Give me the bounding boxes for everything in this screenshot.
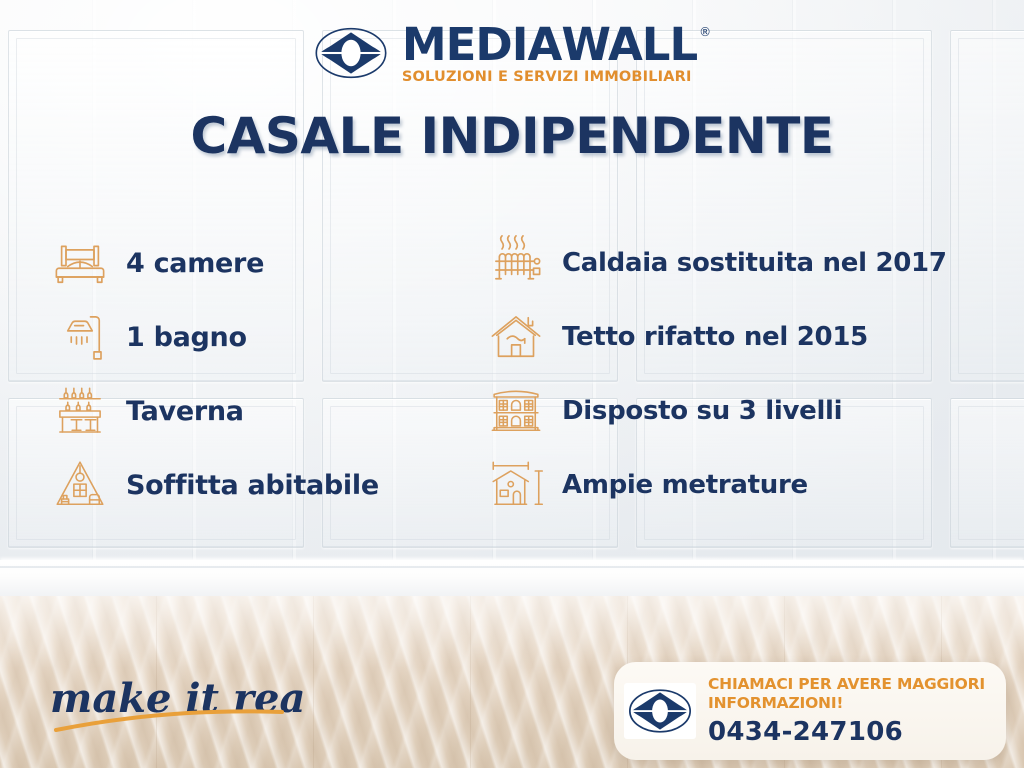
contact-card[interactable]: CHIAMACI PER AVERE MAGGIORI INFORMAZIONI… [614, 662, 1006, 760]
mediawall-eye-logo-icon [624, 683, 696, 739]
feature-label: Soffitta abitabile [126, 470, 379, 501]
feature-item: Caldaia sostituita nel 2017 [488, 228, 992, 298]
brand-tagline: SOLUZIONI E SERVIZI IMMOBILIARI [402, 70, 710, 85]
feature-item: Ampie metrature [488, 450, 992, 520]
brand-text-block: MEDIAWALL® SOLUZIONI E SERVIZI IMMOBILIA… [402, 22, 710, 85]
page-title: CASALE INDIPENDENTE [0, 107, 1024, 165]
brand-name-part1: MEDIA [402, 22, 561, 67]
house-roof-icon [488, 309, 544, 365]
feature-item: Tetto rifatto nel 2015 [488, 302, 992, 372]
brand-name-part2: WALL [561, 22, 697, 67]
bed-icon [52, 235, 108, 291]
feature-item: Soffitta abitabile [52, 450, 470, 520]
attic-icon [52, 457, 108, 513]
feature-item: Disposto su 3 livelli [488, 376, 992, 446]
contact-text-block: CHIAMACI PER AVERE MAGGIORI INFORMAZIONI… [708, 675, 990, 747]
mediawall-eye-logo-icon [314, 22, 388, 84]
feature-label: Ampie metrature [562, 470, 808, 500]
two-story-building-icon [488, 383, 544, 439]
feature-item: 1 bagno [52, 302, 470, 372]
registered-mark-icon: ® [699, 26, 710, 38]
radiator-icon [488, 235, 544, 291]
contact-phone-number[interactable]: 0434-247106 [708, 717, 990, 747]
shower-icon [52, 309, 108, 365]
brand-wordmark: MEDIAWALL® [402, 22, 710, 67]
feature-label: Disposto su 3 livelli [562, 396, 842, 426]
tagline-block: make it real [46, 668, 306, 738]
feature-label: 1 bagno [126, 322, 247, 353]
feature-label: 4 camere [126, 248, 264, 279]
house-measure-icon [488, 457, 544, 513]
marketing-flyer: MEDIAWALL® SOLUZIONI E SERVIZI IMMOBILIA… [0, 0, 1024, 768]
feature-label: Taverna [126, 396, 244, 427]
feature-item: 4 camere [52, 228, 470, 298]
brand-header: MEDIAWALL® SOLUZIONI E SERVIZI IMMOBILIA… [0, 22, 1024, 85]
bar-counter-icon [52, 383, 108, 439]
feature-label: Tetto rifatto nel 2015 [562, 322, 868, 352]
contact-headline: CHIAMACI PER AVERE MAGGIORI INFORMAZIONI… [708, 675, 990, 712]
baseboard [0, 560, 1024, 598]
feature-label: Caldaia sostituita nel 2017 [562, 248, 947, 278]
feature-item: Taverna [52, 376, 470, 446]
feature-list: 4 camere Caldaia sostituita nel 2017 [52, 228, 992, 520]
make-it-real-tagline: make it real [46, 668, 306, 738]
